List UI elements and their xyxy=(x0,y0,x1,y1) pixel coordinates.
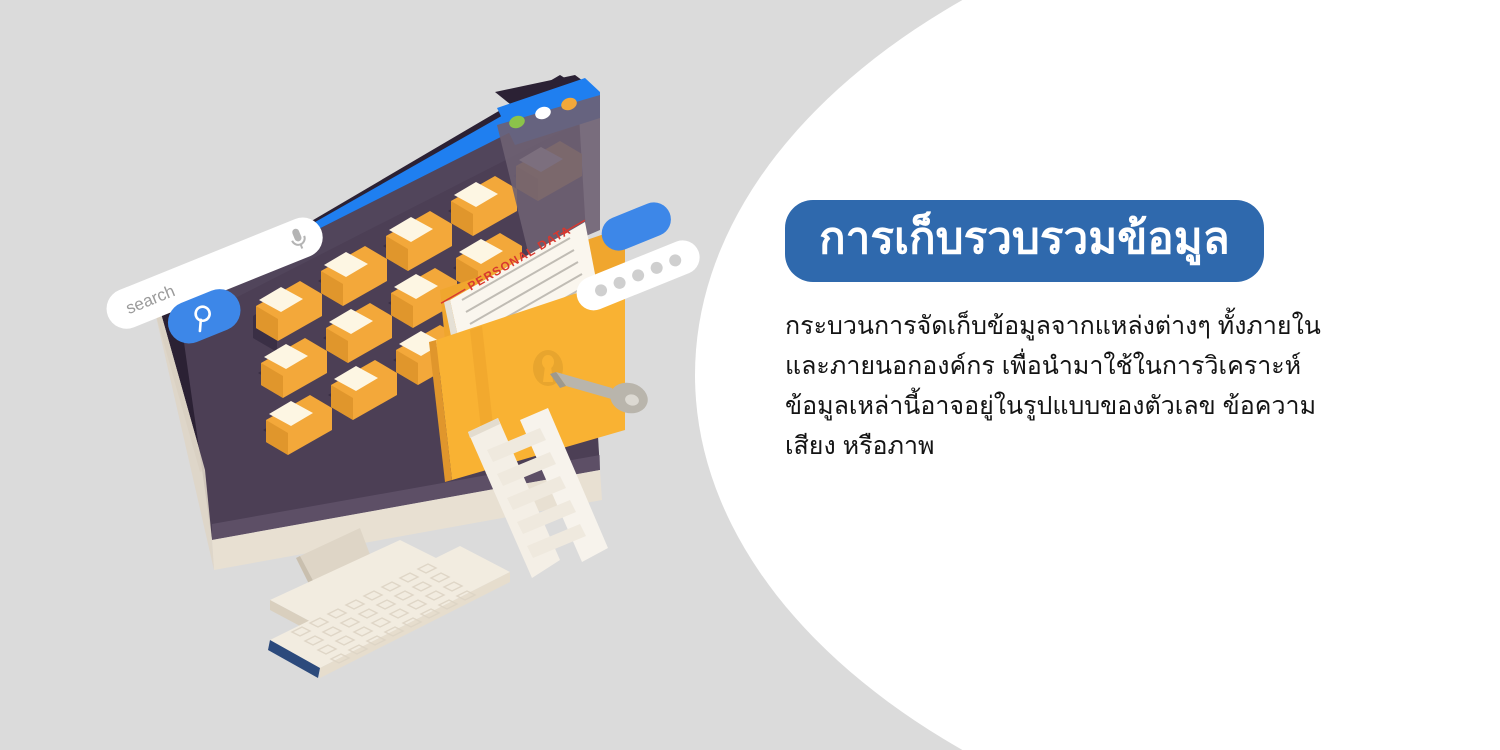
body-line-1: กระบวนการจัดเก็บข้อมูลจากแหล่งต่างๆ ทั้ง… xyxy=(785,306,1425,346)
page-title: การเก็บรวบรวมข้อมูล xyxy=(819,216,1230,262)
body-copy: กระบวนการจัดเก็บข้อมูลจากแหล่งต่างๆ ทั้ง… xyxy=(785,306,1425,466)
infographic-slide: search xyxy=(0,0,1500,750)
data-collection-illustration: search xyxy=(0,0,760,750)
body-line-4: เสียง หรือภาพ xyxy=(785,426,1425,466)
title-badge: การเก็บรวบรวมข้อมูล xyxy=(785,200,1264,282)
body-line-3: ข้อมูลเหล่านี้อาจอยู่ในรูปแบบของตัวเลข ข… xyxy=(785,386,1425,426)
body-line-2: และภายนอกองค์กร เพื่อนำมาใช้ในการวิเคราะ… xyxy=(785,346,1425,386)
content-block: การเก็บรวบรวมข้อมูล กระบวนการจัดเก็บข้อม… xyxy=(785,200,1425,466)
